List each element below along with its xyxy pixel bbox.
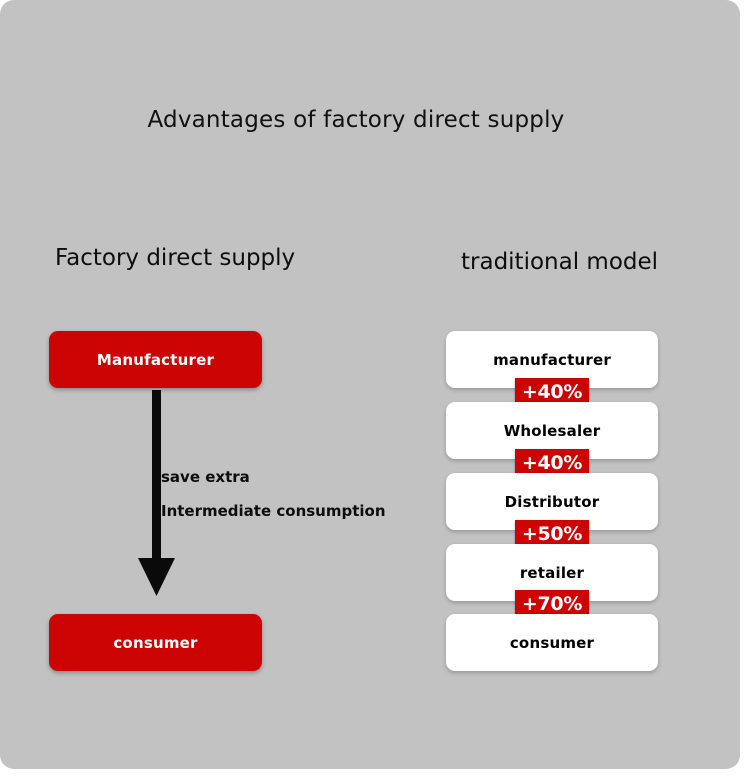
column-heading-traditional: traditional model <box>461 249 658 275</box>
node-label: Wholesaler <box>504 422 601 440</box>
saving-note-line-2: Intermediate consumption <box>161 502 386 520</box>
page-title: Advantages of factory direct supply <box>0 107 712 133</box>
node-label: Distributor <box>505 493 600 511</box>
node-traditional-consumer[interactable]: consumer <box>446 614 658 671</box>
saving-note-line-1: save extra <box>161 468 250 486</box>
column-heading-direct: Factory direct supply <box>55 245 295 271</box>
markup-label: +70% <box>522 593 582 615</box>
node-label: retailer <box>520 564 584 582</box>
diagram-canvas: Advantages of factory direct supply Fact… <box>0 0 740 769</box>
node-label: manufacturer <box>493 351 611 369</box>
node-label: consumer <box>113 634 197 652</box>
node-direct-consumer[interactable]: consumer <box>49 614 262 671</box>
node-label: consumer <box>510 634 594 652</box>
node-direct-manufacturer[interactable]: Manufacturer <box>49 331 262 388</box>
node-label: Manufacturer <box>97 351 214 369</box>
markup-label: +40% <box>522 381 582 403</box>
markup-label: +50% <box>522 523 582 545</box>
down-arrow-icon <box>128 390 188 600</box>
markup-label: +40% <box>522 452 582 474</box>
